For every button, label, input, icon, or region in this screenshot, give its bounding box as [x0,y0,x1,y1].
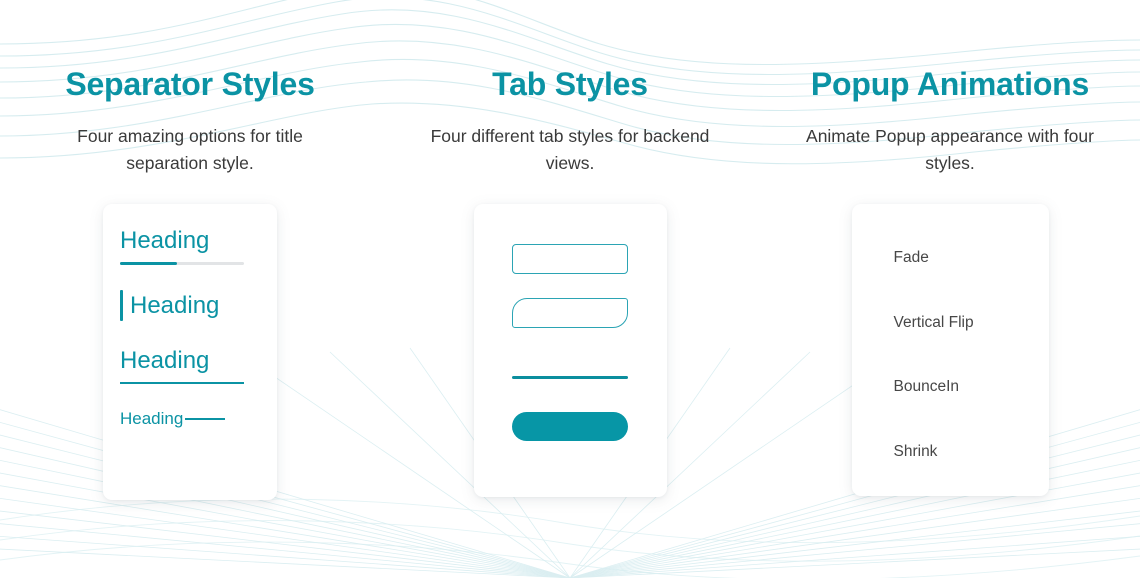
separator-heading-label: Heading [120,226,260,255]
separator-heading-label: Heading [120,409,183,429]
separator-trailing-line [185,418,225,420]
popup-animation-item-vertical-flip[interactable]: Vertical Flip [852,314,1049,333]
tab-style-list [474,204,667,441]
separator-heading-label: Heading [130,291,219,320]
page: Separator Styles Four amazing options fo… [0,0,1140,578]
separator-left-bar-group: Heading [120,290,260,321]
separator-trailing-group: Heading [120,409,260,429]
separator-rule-full [120,382,244,384]
column-title-popup-animations: Popup Animations [811,66,1089,104]
tab-style-filled-pill[interactable] [512,412,628,441]
separator-styles-card: Heading Heading Heading [103,204,277,500]
popup-animation-item-shrink[interactable]: Shrink [852,443,1049,462]
popup-animation-list: Fade Vertical Flip BounceIn Shrink [852,204,1049,461]
tab-style-outlined-rounded-rect[interactable] [512,244,628,274]
separator-vertical-bar [120,290,123,321]
popup-animation-item-bouncein[interactable]: BounceIn [852,378,1049,397]
column-title-separator-styles: Separator Styles [65,66,314,104]
popup-animation-item-fade[interactable]: Fade [852,249,1049,268]
separator-style-list: Heading Heading Heading [103,204,277,429]
feature-column-tab-styles: Tab Styles Four different tab styles for… [380,66,760,500]
separator-style-full-underline[interactable]: Heading [120,346,260,383]
feature-column-separator-styles: Separator Styles Four amazing options fo… [0,66,380,500]
separator-style-left-vertical-bar[interactable]: Heading [120,290,260,321]
tab-style-underline-bar[interactable] [512,376,628,379]
separator-heading-label: Heading [120,346,260,375]
column-subtitle-separator-styles: Four amazing options for title separatio… [40,123,340,178]
popup-animations-card: Fade Vertical Flip BounceIn Shrink [852,204,1049,496]
column-subtitle-tab-styles: Four different tab styles for backend vi… [420,123,720,178]
column-subtitle-popup-animations: Animate Popup appearance with four style… [800,123,1100,178]
column-title-tab-styles: Tab Styles [492,66,648,104]
separator-style-trailing-line[interactable]: Heading [120,409,260,429]
separator-style-split-underline[interactable]: Heading [120,226,260,265]
separator-rule-split [120,262,244,265]
feature-columns: Separator Styles Four amazing options fo… [0,0,1140,500]
tab-style-outlined-diagonal-rounded[interactable] [512,298,628,328]
feature-column-popup-animations: Popup Animations Animate Popup appearanc… [760,66,1140,500]
tab-styles-card [474,204,667,497]
